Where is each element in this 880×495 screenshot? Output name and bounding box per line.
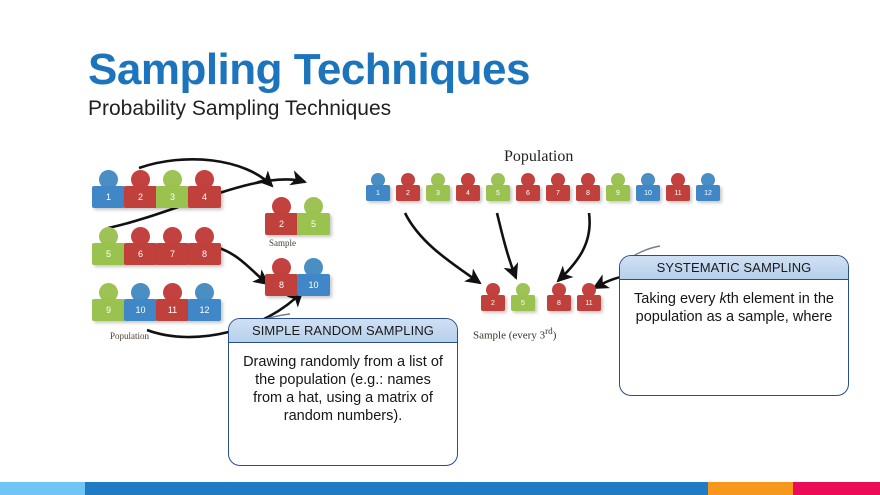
- person-figure: 8: [265, 258, 298, 302]
- person-label: 6: [516, 185, 540, 201]
- left-sample-label: Sample: [269, 238, 296, 248]
- person-label: 10: [124, 299, 157, 321]
- person-label: 9: [92, 299, 125, 321]
- person-figure: 8: [576, 173, 600, 206]
- person-label: 11: [577, 295, 601, 311]
- person-figure: 8: [547, 283, 571, 316]
- person-label: 2: [124, 186, 157, 208]
- person-label: 11: [666, 185, 690, 201]
- person-figure: 12: [188, 283, 221, 327]
- person-figure: 6: [124, 227, 157, 271]
- callout-systematic-body-italic: k: [719, 291, 726, 307]
- person-label: 8: [576, 185, 600, 201]
- bar-segment-crimson: [793, 482, 880, 495]
- page-title: Sampling Techniques: [88, 48, 530, 92]
- person-figure: 4: [188, 170, 221, 214]
- left-population-label: Population: [110, 331, 149, 341]
- person-label: 9: [606, 185, 630, 201]
- callout-simple-random-sampling: SIMPLE RANDOM SAMPLING Drawing randomly …: [228, 318, 458, 466]
- person-label: 5: [297, 213, 330, 235]
- person-figure: 7: [546, 173, 570, 206]
- person-figure: 8: [188, 227, 221, 271]
- person-label: 8: [547, 295, 571, 311]
- person-figure: 9: [606, 173, 630, 206]
- person-figure: 2: [124, 170, 157, 214]
- person-label: 10: [636, 185, 660, 201]
- person-figure: 3: [426, 173, 450, 206]
- bottom-accent-bar: [0, 482, 880, 495]
- person-figure: 11: [156, 283, 189, 327]
- person-figure: 10: [297, 258, 330, 302]
- person-label: 3: [426, 185, 450, 201]
- person-label: 1: [92, 186, 125, 208]
- person-figure: 6: [516, 173, 540, 206]
- person-figure: 11: [577, 283, 601, 316]
- page-subtitle: Probability Sampling Techniques: [88, 98, 530, 119]
- person-label: 11: [156, 299, 189, 321]
- callout-simple-random-header: SIMPLE RANDOM SAMPLING: [229, 319, 457, 343]
- person-figure: 5: [511, 283, 535, 316]
- person-figure: 10: [636, 173, 660, 206]
- person-figure: 3: [156, 170, 189, 214]
- callout-simple-random-body: Drawing randomly from a list of the popu…: [229, 343, 457, 436]
- person-label: 10: [297, 274, 330, 296]
- callout-systematic-sampling: SYSTEMATIC SAMPLING Taking every kth ele…: [619, 255, 849, 396]
- title-block: Sampling Techniques Probability Sampling…: [88, 48, 530, 119]
- right-sample-label-tail: ): [553, 330, 557, 342]
- person-figure: 5: [92, 227, 125, 271]
- person-label: 6: [124, 243, 157, 265]
- person-figure: 5: [486, 173, 510, 206]
- person-figure: 10: [124, 283, 157, 327]
- person-figure: 12: [696, 173, 720, 206]
- bar-segment-orange: [708, 482, 793, 495]
- person-label: 7: [156, 243, 189, 265]
- bar-segment-blue: [85, 482, 708, 495]
- person-label: 5: [486, 185, 510, 201]
- person-label: 2: [265, 213, 298, 235]
- person-figure: 9: [92, 283, 125, 327]
- person-label: 2: [481, 295, 505, 311]
- callout-systematic-body-pre: Taking every: [634, 291, 719, 307]
- person-label: 4: [188, 186, 221, 208]
- callout-systematic-header: SYSTEMATIC SAMPLING: [620, 256, 848, 280]
- bar-segment-light-blue: [0, 482, 85, 495]
- person-figure: 1: [92, 170, 125, 214]
- right-population-label: Population: [504, 148, 573, 166]
- right-sample-label-sup: rd: [545, 326, 553, 336]
- person-figure: 7: [156, 227, 189, 271]
- person-figure: 2: [396, 173, 420, 206]
- callout-systematic-body: Taking every kth element in the populati…: [620, 280, 848, 336]
- person-figure: 5: [297, 197, 330, 241]
- person-figure: 4: [456, 173, 480, 206]
- person-figure: 2: [265, 197, 298, 241]
- person-label: 1: [366, 185, 390, 201]
- person-label: 3: [156, 186, 189, 208]
- person-label: 2: [396, 185, 420, 201]
- person-label: 12: [188, 299, 221, 321]
- right-sample-label-text: Sample (every 3: [473, 330, 545, 342]
- person-label: 8: [265, 274, 298, 296]
- person-figure: 1: [366, 173, 390, 206]
- person-label: 8: [188, 243, 221, 265]
- person-figure: 2: [481, 283, 505, 316]
- person-label: 7: [546, 185, 570, 201]
- person-label: 5: [92, 243, 125, 265]
- right-diagram-arrows: [405, 213, 629, 288]
- person-figure: 11: [666, 173, 690, 206]
- person-label: 4: [456, 185, 480, 201]
- person-label: 5: [511, 295, 535, 311]
- person-label: 12: [696, 185, 720, 201]
- right-sample-label: Sample (every 3rd): [473, 326, 556, 342]
